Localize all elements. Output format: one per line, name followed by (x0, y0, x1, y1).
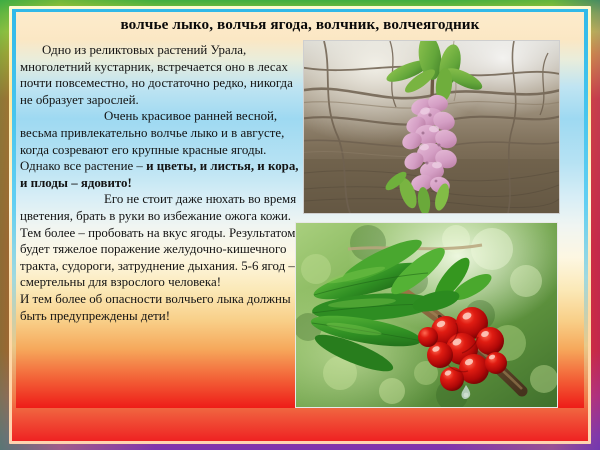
page-title: волчье лыко, волчья ягода, волчник, волч… (120, 16, 479, 34)
daphne-flowers-illustration (304, 41, 559, 213)
paragraph-1-run-1: Одно из реликтовых растений Урала, много… (20, 43, 293, 107)
paragraph-1: Одно из реликтовых растений Урала, много… (20, 42, 301, 108)
title-bar: волчье лыко, волчья ягода, волчник, волч… (16, 12, 584, 38)
daphne-berries-illustration (296, 223, 557, 407)
content-panel: волчье лыко, волчья ягода, волчник, волч… (16, 12, 584, 408)
paragraph-3: Его не стоит даже нюхать во время цветен… (20, 191, 301, 291)
paragraph-4-run-1: И тем более об опасности волчьего лыка д… (20, 292, 291, 323)
paragraph-4: И тем более об опасности волчьего лыка д… (20, 291, 301, 324)
paragraph-2: Очень красивое ранней весной, весьма при… (20, 108, 301, 191)
daphne-red-berries-photo (295, 222, 558, 408)
daphne-flowering-branch-photo (303, 40, 560, 214)
body-text-column: Одно из реликтовых растений Урала, много… (20, 42, 301, 324)
paragraph-3-run-1: Его не стоит даже нюхать во время цветен… (20, 192, 296, 289)
slide: волчье лыко, волчья ягода, волчник, волч… (0, 0, 600, 450)
